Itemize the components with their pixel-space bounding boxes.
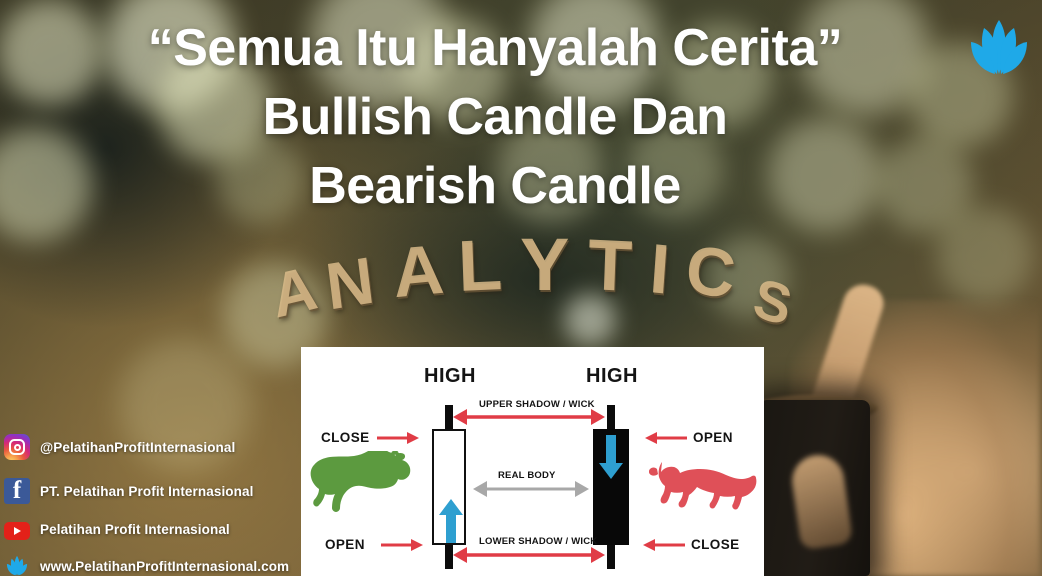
bullish-lower-wick xyxy=(445,543,453,569)
pointer-close-right-icon xyxy=(643,538,685,552)
pointer-close-left-icon xyxy=(377,431,419,445)
bullish-candle-body xyxy=(432,429,466,545)
social-row-facebook[interactable]: PT. Pelatihan Profit Internasional xyxy=(4,478,253,504)
real-body-arrow-icon xyxy=(473,481,589,497)
label-lower-shadow: LOWER SHADOW / WICK xyxy=(479,536,597,547)
bearish-upper-wick xyxy=(607,405,615,431)
lotus-logo-icon xyxy=(963,12,1035,84)
lotus-icon[interactable] xyxy=(4,553,30,576)
bearish-lower-wick xyxy=(607,543,615,569)
facebook-icon[interactable] xyxy=(4,478,30,504)
headline-line-2: Bullish Candle Dan xyxy=(60,83,930,152)
label-open-left: OPEN xyxy=(325,537,365,552)
candlestick-diagram-panel: HIGH HIGH CLOSE OPEN OPEN CLOSE xyxy=(301,347,764,576)
bullish-upper-wick xyxy=(445,405,453,429)
social-label-website: www.PelatihanProfitInternasional.com xyxy=(40,559,289,574)
label-high-left: HIGH xyxy=(424,365,476,388)
promo-graphic-canvas: ANALYTICS “Semua Itu Hanyalah Cerita” Bu… xyxy=(0,0,1042,576)
bull-illustration xyxy=(309,451,413,522)
label-real-body: REAL BODY xyxy=(498,470,556,481)
pointer-open-right-icon xyxy=(645,431,687,445)
social-row-youtube[interactable]: Pelatihan Profit Internasional xyxy=(4,516,230,542)
social-row-instagram[interactable]: @PelatihanProfitInternasional xyxy=(4,434,235,460)
label-upper-shadow: UPPER SHADOW / WICK xyxy=(479,399,595,410)
youtube-icon[interactable] xyxy=(4,516,30,542)
bear-illustration xyxy=(649,459,757,516)
social-label-facebook: PT. Pelatihan Profit Internasional xyxy=(40,484,253,499)
label-close-left: CLOSE xyxy=(321,430,370,445)
headline-line-3: Bearish Candle xyxy=(60,152,930,221)
label-open-right: OPEN xyxy=(693,430,733,445)
headline-line-1: “Semua Itu Hanyalah Cerita” xyxy=(148,19,843,77)
social-label-youtube: Pelatihan Profit Internasional xyxy=(40,522,230,537)
social-label-instagram: @PelatihanProfitInternasional xyxy=(40,440,235,455)
lower-shadow-arrow-icon xyxy=(453,547,605,563)
pointer-open-left-icon xyxy=(381,538,423,552)
label-high-right: HIGH xyxy=(586,365,638,388)
bearish-candle-body xyxy=(593,429,629,545)
label-close-right: CLOSE xyxy=(691,537,740,552)
social-row-website[interactable]: www.PelatihanProfitInternasional.com xyxy=(4,553,289,576)
instagram-icon[interactable] xyxy=(4,434,30,460)
upper-shadow-arrow-icon xyxy=(453,409,605,425)
page-title: “Semua Itu Hanyalah Cerita” Bullish Cand… xyxy=(60,14,930,221)
